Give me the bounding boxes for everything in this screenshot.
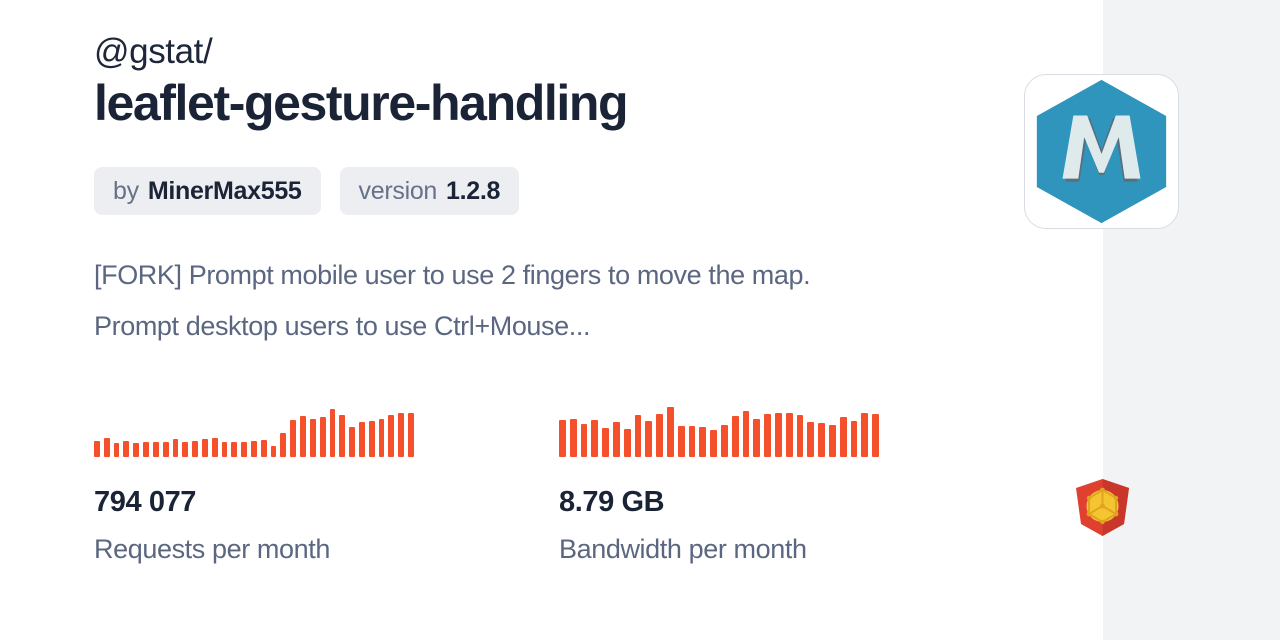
stat-requests: 794 077 Requests per month <box>94 405 559 564</box>
sparkline-bar <box>300 416 306 457</box>
sparkline-bar <box>398 413 404 457</box>
sparkline-bar <box>182 442 188 457</box>
author-badge-prefix: by <box>113 177 139 206</box>
jsdelivr-logo-icon <box>1070 475 1135 540</box>
sparkline-bar <box>369 421 375 457</box>
requests-value: 794 077 <box>94 486 559 518</box>
bandwidth-sparkline <box>559 405 879 457</box>
package-scope: @gstat/ <box>94 30 1024 74</box>
content-column: @gstat/ leaflet-gesture-handling by Mine… <box>94 0 1024 640</box>
requests-sparkline <box>94 405 414 457</box>
sparkline-bar <box>408 413 414 457</box>
stat-bandwidth: 8.79 GB Bandwidth per month <box>559 405 1024 564</box>
sparkline-bar <box>222 442 228 457</box>
sparkline-bar <box>721 425 728 457</box>
sparkline-bar <box>163 442 169 457</box>
sparkline-bar <box>251 441 257 457</box>
sparkline-bar <box>764 414 771 457</box>
sparkline-bar <box>797 415 804 457</box>
sparkline-bar <box>732 416 739 457</box>
author-badge-value: MinerMax555 <box>148 177 302 206</box>
version-badge: version 1.2.8 <box>340 167 520 215</box>
sparkline-bar <box>872 414 879 457</box>
sparkline-bar <box>290 420 296 457</box>
sparkline-bar <box>133 443 139 457</box>
sparkline-bar <box>667 407 674 457</box>
sparkline-bar <box>104 438 110 457</box>
sparkline-bar <box>192 441 198 457</box>
sparkline-bar <box>710 430 717 457</box>
sparkline-bar <box>786 413 793 457</box>
requests-label: Requests per month <box>94 534 559 564</box>
sparkline-bar <box>379 419 385 457</box>
version-badge-value: 1.2.8 <box>446 177 500 206</box>
sparkline-bar <box>570 419 577 457</box>
sparkline-bar <box>212 438 218 457</box>
bandwidth-label: Bandwidth per month <box>559 534 1024 564</box>
sparkline-bar <box>656 414 663 457</box>
sparkline-bar <box>613 422 620 457</box>
package-description: [FORK] Prompt mobile user to use 2 finge… <box>94 250 894 352</box>
sparkline-bar <box>94 441 100 457</box>
package-name: leaflet-gesture-handling <box>94 74 1024 132</box>
sparkline-bar <box>388 415 394 457</box>
sparkline-bar <box>775 413 782 457</box>
sparkline-bar <box>559 420 566 457</box>
sparkline-bar <box>280 433 286 457</box>
sparkline-bar <box>261 440 267 457</box>
sparkline-bar <box>339 415 345 457</box>
version-badge-prefix: version <box>359 177 438 206</box>
bandwidth-value: 8.79 GB <box>559 486 1024 518</box>
author-badge: by MinerMax555 <box>94 167 321 215</box>
sparkline-bar <box>114 443 120 457</box>
package-title-block: @gstat/ leaflet-gesture-handling <box>94 30 1024 132</box>
sparkline-bar <box>840 417 847 457</box>
sparkline-bar <box>602 428 609 457</box>
sparkline-bar <box>689 426 696 457</box>
stats-row: 794 077 Requests per month 8.79 GB Bandw… <box>94 405 1024 564</box>
sparkline-bar <box>753 419 760 457</box>
package-logo-card <box>1024 74 1179 229</box>
sparkline-bar <box>624 429 631 457</box>
sparkline-bar <box>635 415 642 457</box>
sparkline-bar <box>153 442 159 457</box>
sparkline-bar <box>818 423 825 457</box>
sparkline-bar <box>591 420 598 457</box>
sparkline-bar <box>645 421 652 457</box>
package-logo-hexagon-m-icon <box>1025 74 1178 229</box>
badge-row: by MinerMax555 version 1.2.8 <box>94 167 519 215</box>
sparkline-bar <box>310 419 316 457</box>
sparkline-bar <box>851 421 858 457</box>
sparkline-bar <box>330 409 336 457</box>
sparkline-bar <box>123 441 129 457</box>
sparkline-bar <box>581 424 588 457</box>
package-stats-card: @gstat/ leaflet-gesture-handling by Mine… <box>0 0 1280 640</box>
sparkline-bar <box>143 442 149 457</box>
sparkline-bar <box>743 411 750 457</box>
sparkline-bar <box>231 442 237 457</box>
sparkline-bar <box>359 422 365 457</box>
sparkline-bar <box>320 417 326 457</box>
sparkline-bar <box>861 413 868 457</box>
sparkline-bar <box>678 426 685 457</box>
sparkline-bar <box>807 422 814 457</box>
sparkline-bar <box>173 439 179 457</box>
sparkline-bar <box>829 425 836 457</box>
sparkline-bar <box>271 446 277 457</box>
jsdelivr-logo <box>1070 475 1135 540</box>
sparkline-bar <box>699 427 706 457</box>
sparkline-bar <box>349 427 355 457</box>
sparkline-bar <box>202 439 208 457</box>
sparkline-bar <box>241 442 247 457</box>
